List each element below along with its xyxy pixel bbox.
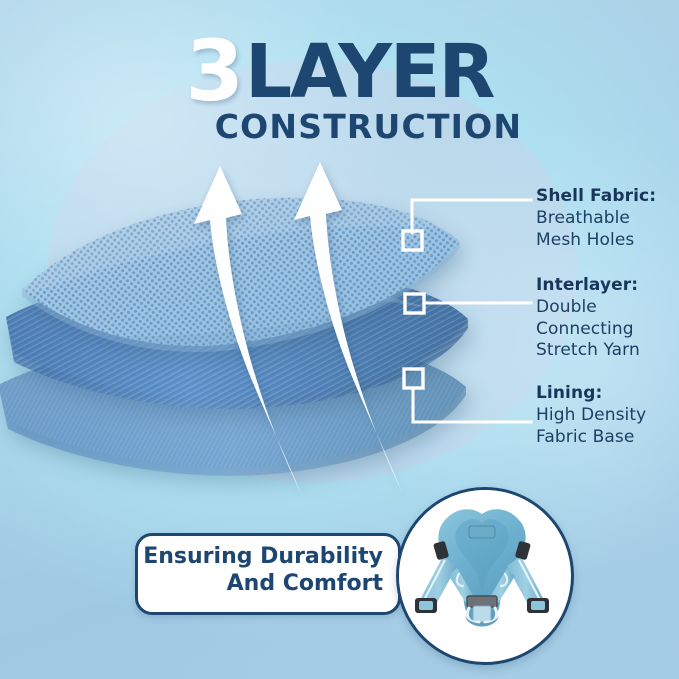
callout-lining: Lining: High Density Fabric Base — [536, 383, 646, 448]
airflow-arrow-left — [194, 166, 302, 496]
callout-interlayer-line1: Double — [536, 297, 640, 319]
title-number: 3 — [186, 37, 241, 106]
dog-harness-illustration — [399, 490, 565, 656]
harness-slider-bottom-left-webbing — [419, 601, 433, 610]
infographic-canvas: 3 LAYER CONSTRUCTION — [0, 0, 679, 679]
callout-interlayer-heading: Interlayer: — [536, 275, 640, 297]
airflow-arrows — [180, 140, 460, 520]
callout-lining-line2: Fabric Base — [536, 427, 646, 449]
title-main-row: 3 LAYER — [0, 34, 679, 103]
callout-shell-fabric-heading: Shell Fabric: — [536, 186, 656, 208]
callout-interlayer-line3: Stretch Yarn — [536, 340, 640, 362]
page-title: 3 LAYER CONSTRUCTION — [0, 34, 679, 146]
title-word-layer: LAYER — [245, 42, 493, 103]
airflow-arrow-right — [294, 162, 402, 492]
callout-interlayer-line2: Connecting — [536, 319, 640, 341]
callout-shell-fabric: Shell Fabric: Breathable Mesh Holes — [536, 186, 656, 251]
harness-buckle-patch — [473, 606, 491, 622]
tagline-line2: And Comfort — [227, 571, 383, 598]
callout-lining-line1: High Density — [536, 405, 646, 427]
callout-lining-heading: Lining: — [536, 383, 646, 405]
callout-interlayer: Interlayer: Double Connecting Stretch Ya… — [536, 275, 640, 362]
callout-shell-fabric-line1: Breathable — [536, 208, 656, 230]
tagline-banner-text: Ensuring Durability And Comfort — [135, 533, 397, 609]
dog-harness-photo — [396, 487, 574, 665]
harness-metal-buckle — [467, 596, 497, 607]
harness-slider-bottom-right-webbing — [531, 601, 545, 610]
harness-label-patch — [469, 526, 495, 538]
tagline-line1: Ensuring Durability — [143, 544, 383, 571]
callout-shell-fabric-line2: Mesh Holes — [536, 230, 656, 252]
